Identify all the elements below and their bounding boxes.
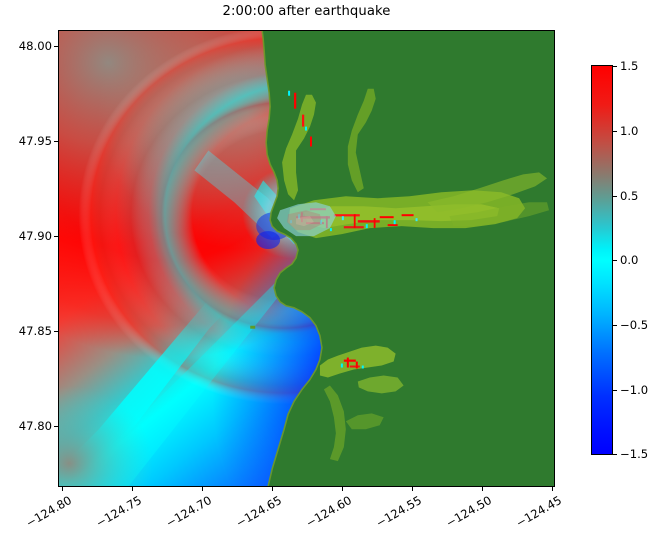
y-ticklabel-0: 48.00	[0, 39, 52, 53]
cbar-ticklabel-3: 0.0	[620, 253, 638, 267]
map-plot-area[interactable]	[58, 30, 555, 487]
cbar-ticklabel-6: −1.5	[620, 447, 648, 461]
x-ticklabel-5: −124.55	[355, 493, 424, 541]
x-tick-1	[132, 487, 133, 491]
y-ticklabel-1: 47.95	[0, 134, 52, 148]
x-tick-3	[272, 487, 273, 491]
cbar-ticklabel-0: 1.5	[620, 59, 638, 73]
cbar-ticklabel-1: 1.0	[620, 124, 638, 138]
chart-title: 2:00:00 after earthquake	[58, 4, 555, 19]
x-tick-7	[552, 487, 553, 491]
cbar-tick-6	[613, 454, 617, 455]
x-ticklabel-1: −124.75	[75, 493, 144, 541]
cbar-ticklabel-4: −0.5	[620, 318, 648, 332]
cbar-tick-5	[613, 390, 617, 391]
y-tick-2	[54, 236, 58, 237]
map-raster-stack	[59, 31, 554, 486]
x-ticklabel-3: −124.65	[215, 493, 284, 541]
cbar-tick-2	[613, 196, 617, 197]
x-tick-6	[482, 487, 483, 491]
y-tick-0	[54, 46, 58, 47]
river-valley-layer	[282, 89, 549, 461]
x-tick-2	[202, 487, 203, 491]
x-ticklabel-6: −124.50	[425, 493, 494, 541]
x-ticklabel-0: −124.80	[5, 493, 74, 541]
cbar-ticklabel-5: −1.0	[620, 383, 648, 397]
cbar-tick-0	[613, 66, 617, 67]
cbar-tick-3	[613, 260, 617, 261]
x-tick-5	[412, 487, 413, 491]
cbar-ticklabel-2: 0.5	[620, 189, 638, 203]
y-tick-4	[54, 426, 58, 427]
x-tick-4	[342, 487, 343, 491]
x-ticklabel-2: −124.70	[145, 493, 214, 541]
cbar-tick-4	[613, 325, 617, 326]
y-tick-3	[54, 331, 58, 332]
colorbar[interactable]	[591, 65, 613, 455]
ocean-and-coast-layer	[59, 31, 554, 486]
y-ticklabel-4: 47.80	[0, 419, 52, 433]
x-ticklabel-7: −124.45	[495, 493, 564, 541]
y-tick-1	[54, 141, 58, 142]
colorbar-gradient	[592, 66, 612, 454]
cbar-tick-1	[613, 131, 617, 132]
y-ticklabel-2: 47.90	[0, 229, 52, 243]
x-tick-0	[62, 487, 63, 491]
x-ticklabel-4: −124.60	[285, 493, 354, 541]
y-ticklabel-3: 47.85	[0, 324, 52, 338]
figure-canvas: 2:00:00 after earthquake	[0, 0, 658, 541]
